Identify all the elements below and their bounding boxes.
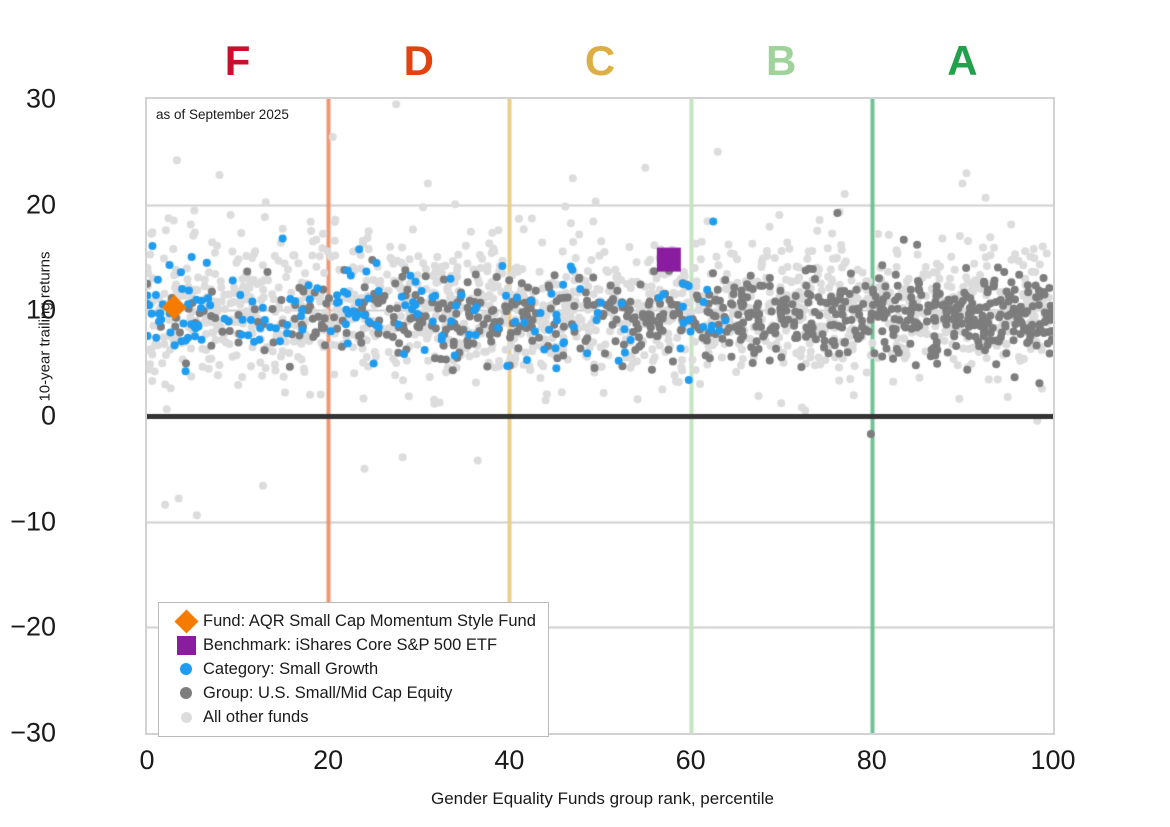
legend-item-label: Benchmark: iShares Core S&P 500 ETF xyxy=(203,636,497,655)
grade-letter-a: A xyxy=(947,40,977,82)
y-tick-label: −20 xyxy=(0,612,56,643)
x-tick-4: 80 xyxy=(857,745,887,776)
y-tick-6: −30 xyxy=(0,718,56,749)
legend-item-label: All other funds xyxy=(203,708,308,727)
grade-letter-c: C xyxy=(585,40,615,82)
x-tick-1: 20 xyxy=(313,745,343,776)
y-tick-5: −20 xyxy=(0,612,56,643)
legend-swatch xyxy=(180,663,192,675)
legend-marker-icon xyxy=(169,663,203,675)
legend-item: Group: U.S. Small/Mid Cap Equity xyxy=(169,681,536,705)
chart-legend: Fund: AQR Small Cap Momentum Style FundB… xyxy=(158,602,549,737)
x-axis-label: Gender Equality Funds group rank, percen… xyxy=(0,789,1170,809)
legend-item-label: Category: Small Growth xyxy=(203,660,378,679)
legend-swatch xyxy=(177,636,196,655)
x-tick-0: 0 xyxy=(139,745,154,776)
y-axis-label: 10-year trailing returns xyxy=(37,67,54,587)
legend-item: Benchmark: iShares Core S&P 500 ETF xyxy=(169,633,536,657)
as-of-annotation: as of September 2025 xyxy=(156,107,289,122)
grade-letter-f: F xyxy=(225,40,251,82)
legend-swatch xyxy=(181,712,192,723)
legend-item: All other funds xyxy=(169,705,536,729)
legend-item: Category: Small Growth xyxy=(169,657,536,681)
grade-band-labels: FDCBA xyxy=(0,0,1170,97)
grade-letter-d: D xyxy=(404,40,434,82)
legend-marker-icon xyxy=(169,687,203,699)
chart-figure: FDCBA 3020100−10−20−30 10-year trailing … xyxy=(0,0,1170,827)
legend-item: Fund: AQR Small Cap Momentum Style Fund xyxy=(169,609,536,633)
legend-item-label: Group: U.S. Small/Mid Cap Equity xyxy=(203,684,452,703)
x-axis-label-text: Gender Equality Funds group rank, percen… xyxy=(396,789,774,808)
legend-swatch xyxy=(174,609,198,633)
x-tick-3: 60 xyxy=(676,745,706,776)
x-tick-5: 100 xyxy=(1030,745,1075,776)
legend-marker-icon xyxy=(169,613,203,630)
legend-marker-icon xyxy=(169,712,203,723)
x-tick-2: 40 xyxy=(494,745,524,776)
grade-letter-b: B xyxy=(766,40,796,82)
y-tick-label: −30 xyxy=(0,718,56,749)
legend-marker-icon xyxy=(169,636,203,655)
legend-item-label: Fund: AQR Small Cap Momentum Style Fund xyxy=(203,612,536,631)
legend-swatch xyxy=(180,687,192,699)
